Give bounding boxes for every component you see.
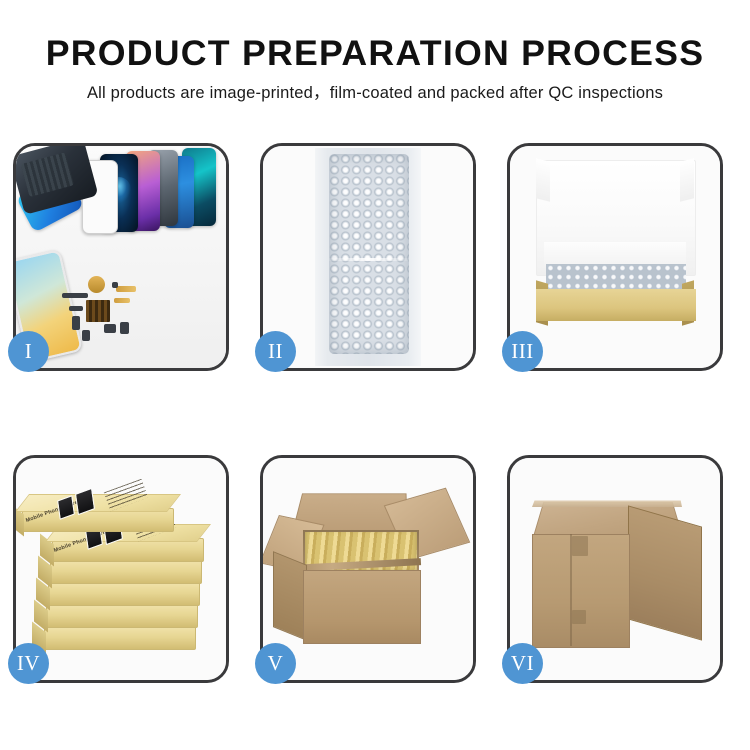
sealed-carton-tab-upper [572,536,588,556]
sealed-carton-right-face [628,505,702,640]
step-badge-2: II [255,331,296,372]
carton-left-face [273,551,307,641]
process-steps-grid: I II III [13,143,737,677]
spare-part-flex-cable [116,286,136,292]
inner-box-lid-flap-left [536,158,550,201]
step-image-3 [510,146,720,368]
step-badge-6: VI [502,643,543,684]
retail-box-layer-3 [48,582,200,606]
page-header: PRODUCT PREPARATION PROCESS All products… [0,0,750,130]
spare-part-shield [104,324,116,333]
sealed-carton-tab-lower [572,610,586,624]
bubble-wrap-seam [329,258,409,261]
spare-part-ic-grid [86,300,110,322]
retail-box-top-face [16,494,181,512]
carton-front-face [303,570,421,644]
step-card-6: VI [507,455,723,683]
retail-box-layer-5 [44,626,196,650]
sealed-carton-tape [532,500,682,507]
step-image-2 [263,146,473,368]
spare-part-buzzer [120,322,129,334]
step-card-5: V [260,455,476,683]
spare-part-pin [72,316,80,330]
spare-part-connector [82,330,90,341]
bubble-wrap-pouch [329,154,409,354]
retail-box-stack: Mobile Phone Spare Parts Mobile Phone Sp… [16,458,226,680]
step-image-6 [510,458,720,680]
spare-part-flex-small [114,298,130,303]
step-badge-1: I [8,331,49,372]
spare-part-speaker [88,276,105,293]
inner-box-front-panel [536,289,696,321]
step-badge-3: III [502,331,543,372]
spare-part-screw [112,282,118,288]
step-badge-5: V [255,643,296,684]
inner-box-lid-flap-right [680,158,694,201]
inner-box-bubble-contents [546,264,686,292]
step-image-4: Mobile Phone Spare Parts Mobile Phone Sp… [16,458,226,680]
step-card-3: III [507,143,723,371]
spare-part-bracket [62,293,88,298]
retail-box-layer-4 [46,604,198,628]
step-image-5 [263,458,473,680]
step-image-1 [16,146,226,368]
step-card-2: II [260,143,476,371]
retail-box-layer-2 [50,560,202,584]
step-card-4: Mobile Phone Spare Parts Mobile Phone Sp… [13,455,229,683]
open-carton [263,458,473,680]
step-badge-4: IV [8,643,49,684]
page-title: PRODUCT PREPARATION PROCESS [0,34,750,74]
page-subtitle: All products are image-printed，film-coat… [0,82,750,104]
spare-part-clip [69,306,83,311]
step-card-1: I [13,143,229,371]
